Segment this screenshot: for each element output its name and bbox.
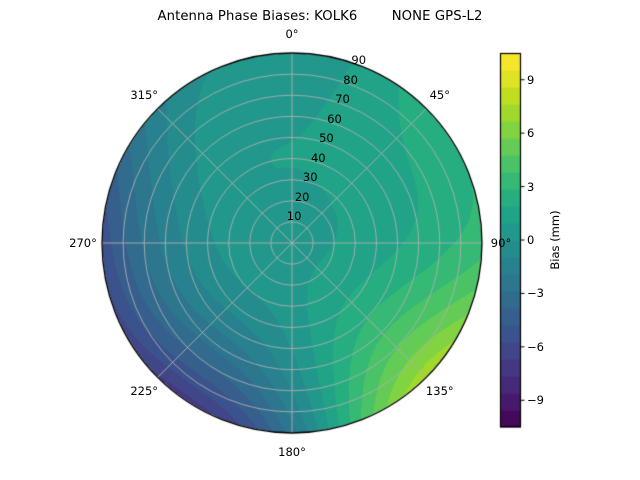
radial-tick-label-80: 80 <box>343 73 358 87</box>
colorbar-tick-label-4: 3 <box>527 180 534 194</box>
colorbar-tick-label-0: −9 <box>527 393 544 407</box>
radial-tick-label-90: 90 <box>351 53 366 67</box>
radial-tick-label-70: 70 <box>335 92 350 106</box>
theta-tick-label-0: 0° <box>285 27 298 41</box>
radial-tick-label-60: 60 <box>327 112 342 126</box>
radial-tick-label-50: 50 <box>319 131 334 145</box>
theta-tick-label-90: 90° <box>491 236 511 250</box>
theta-tick-label-180: 180° <box>278 445 306 459</box>
figure-canvas-root: Antenna Phase Biases: KOLK6 NONE GPS-L2 … <box>0 0 640 480</box>
radial-tick-label-20: 20 <box>295 190 310 204</box>
colorbar-tick-label-1: −6 <box>527 340 544 354</box>
theta-tick-label-315: 315° <box>130 88 158 102</box>
theta-tick-label-135: 135° <box>426 384 454 398</box>
colorbar-tick-label-2: −3 <box>527 286 544 300</box>
colorbar-axis-label: Bias (mm) <box>548 210 562 269</box>
colorbar-tick-label-6: 9 <box>527 73 534 87</box>
radial-tick-label-40: 40 <box>311 151 326 165</box>
theta-tick-label-225: 225° <box>130 384 158 398</box>
radial-tick-label-10: 10 <box>287 209 302 223</box>
theta-tick-label-45: 45° <box>430 88 450 102</box>
colorbar-tick-label-3: 0 <box>527 233 534 247</box>
theta-tick-label-270: 270° <box>69 236 97 250</box>
colorbar-tick-label-5: 6 <box>527 126 534 140</box>
radial-tick-label-30: 30 <box>303 170 318 184</box>
